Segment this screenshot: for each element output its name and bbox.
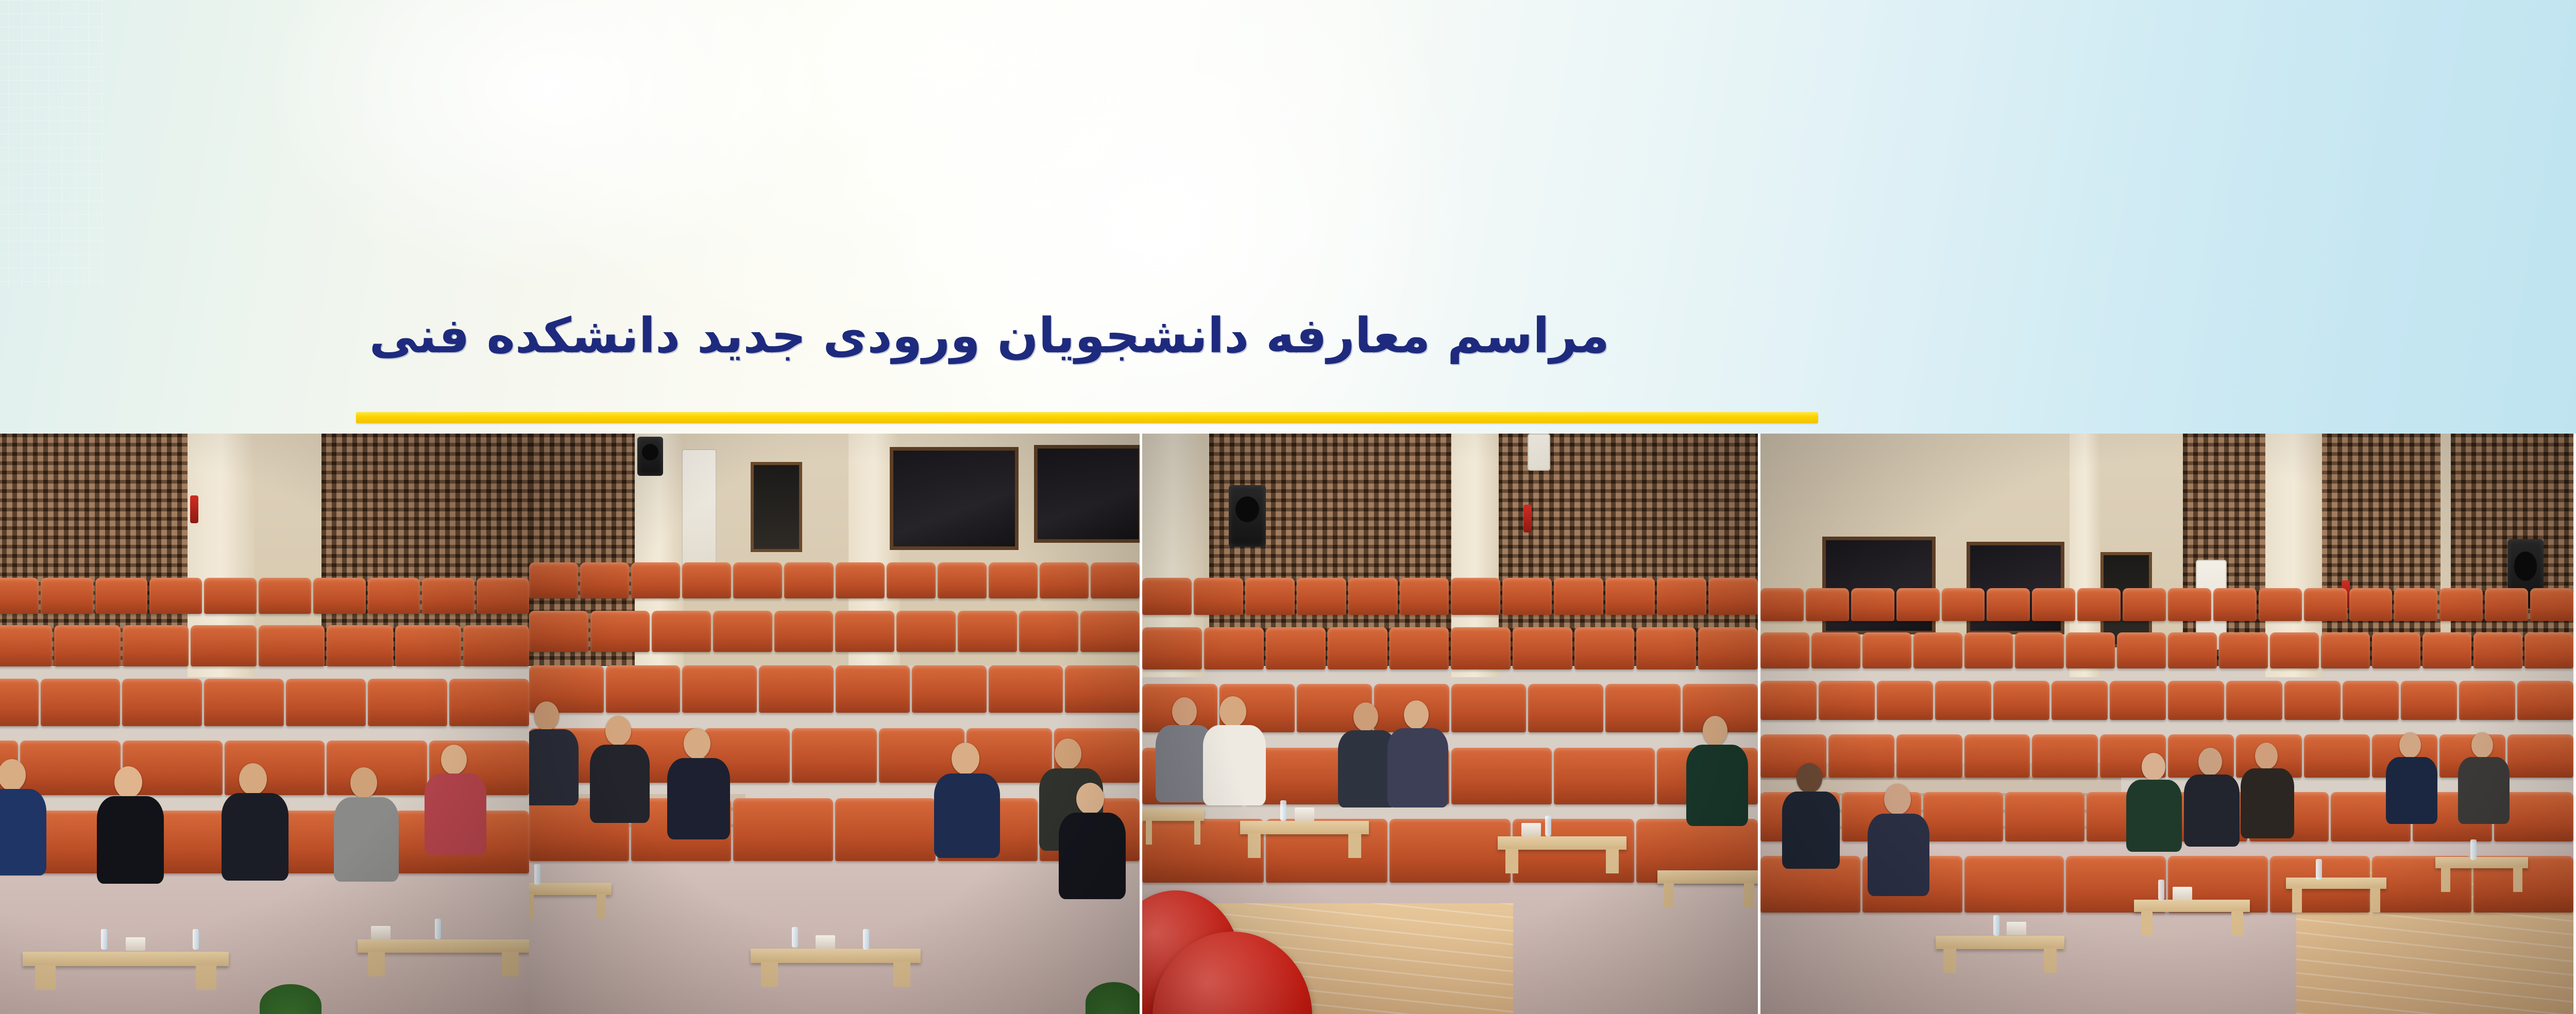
photo-panel-3-faculty-and-students xyxy=(529,434,1142,1014)
banner-header: دانشگاه گیلان روابط عمومی مراسم معارفه د… xyxy=(0,0,2576,434)
banner-page: دانشگاه گیلان روابط عمومی مراسم معارفه د… xyxy=(0,0,2576,1014)
photo-panel-2-front-row-guests xyxy=(1142,434,1760,1014)
title-underline-rule xyxy=(356,412,1818,423)
photo-panel-1-auditorium-wide-view xyxy=(1760,434,2576,1014)
photo-panel-4-officials-seated xyxy=(0,434,529,1014)
banner-grid-texture xyxy=(0,0,105,288)
banner-title: مراسم معارفه دانشجویان ورودی جدید دانشکد… xyxy=(677,312,1609,360)
photo-strip xyxy=(0,434,2576,1014)
banner-light-sheen xyxy=(770,0,1543,434)
